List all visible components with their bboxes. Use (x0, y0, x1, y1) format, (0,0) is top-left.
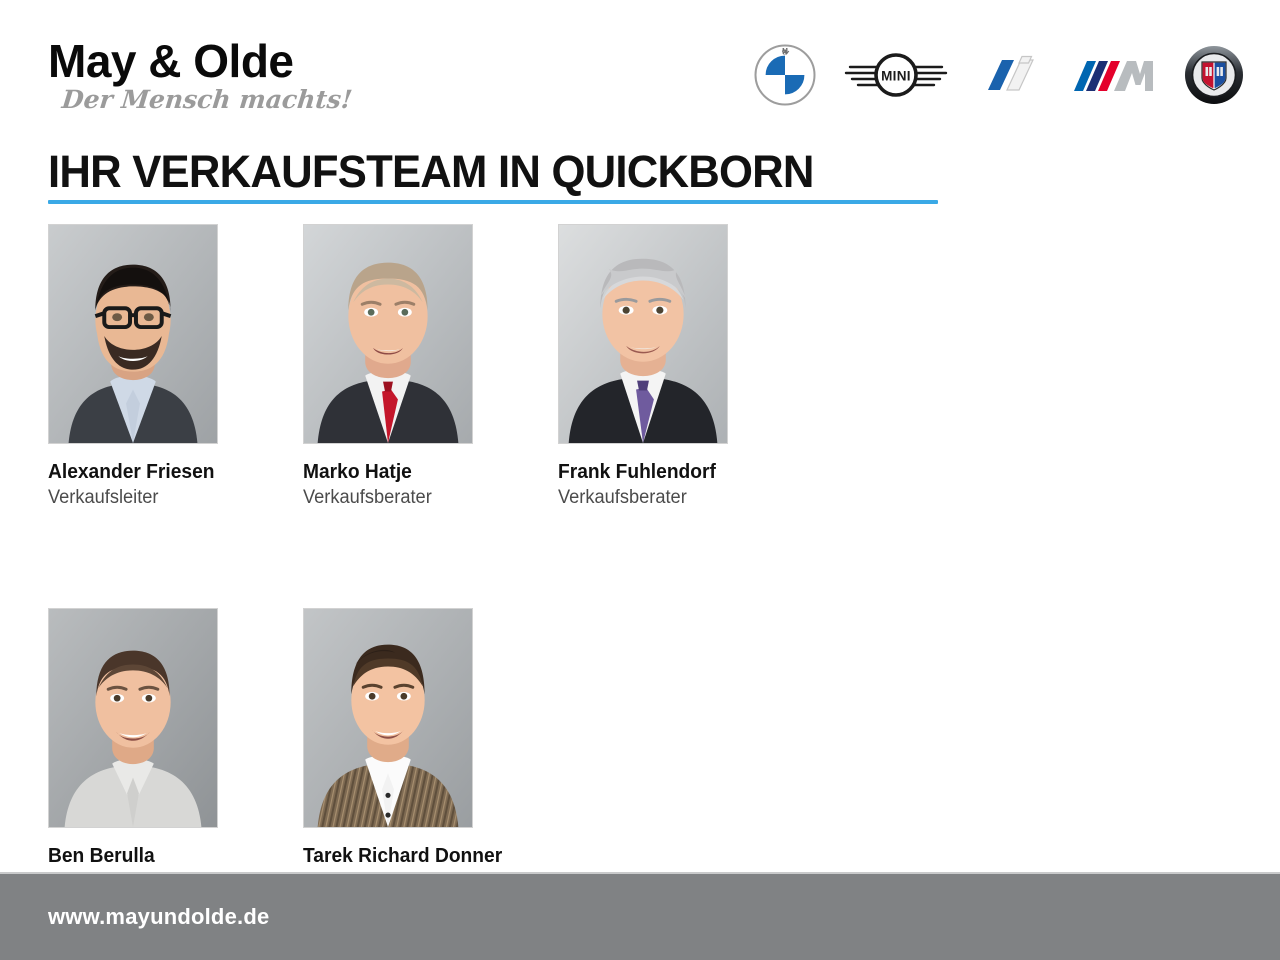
title-underline (48, 200, 938, 204)
team-member-card[interactable]: Frank Fuhlendorf Verkaufsberater (558, 224, 813, 509)
portrait-photo-ben-berulla (48, 608, 218, 828)
company-logo: May & Olde Der Mensch machts! (48, 38, 352, 114)
team-row: Ben Berulla Junior Verkäufer (48, 608, 813, 893)
bmw-i-logo (976, 54, 1042, 101)
alpina-logo (1184, 45, 1244, 110)
member-name: Ben Berulla (48, 845, 293, 868)
website-url[interactable]: www.mayundolde.de (48, 904, 269, 930)
team-member-card[interactable]: Ben Berulla Junior Verkäufer (48, 608, 303, 893)
portrait-photo-tarek-richard-donner (303, 608, 473, 828)
page-title: IHR VERKAUFSTEAM IN QUICKBORN (48, 148, 911, 195)
brand-logo-strip: B M W (754, 40, 1244, 114)
page-footer: www.mayundolde.de (0, 872, 1280, 960)
team-grid: Alexander Friesen Verkaufsleiter (48, 224, 813, 893)
mini-logo: MINI (844, 47, 948, 108)
team-member-card[interactable]: Tarek Richard Donner Junior Verkäufer (303, 608, 558, 893)
portrait-photo-alexander-friesen (48, 224, 218, 444)
company-name: May & Olde (48, 38, 352, 84)
page-title-block: IHR VERKAUFSTEAM IN QUICKBORN (48, 148, 938, 204)
member-role: Verkaufsberater (303, 487, 548, 509)
member-role: Verkaufsberater (558, 487, 803, 509)
team-page: May & Olde Der Mensch machts! B M W (0, 0, 1280, 960)
member-name: Alexander Friesen (48, 461, 293, 484)
svg-text:MINI: MINI (881, 68, 911, 83)
member-role: Verkaufsleiter (48, 487, 293, 509)
portrait-photo-marko-hatje (303, 224, 473, 444)
member-name: Frank Fuhlendorf (558, 461, 803, 484)
company-slogan: Der Mensch machts! (61, 86, 354, 114)
portrait-photo-frank-fuhlendorf (558, 224, 728, 444)
bmw-m-logo (1070, 54, 1156, 101)
team-member-card[interactable]: Marko Hatje Verkaufsberater (303, 224, 558, 509)
page-header: May & Olde Der Mensch machts! B M W (0, 0, 1280, 140)
bmw-logo: B M W (754, 44, 816, 111)
member-name: Marko Hatje (303, 461, 548, 484)
member-name: Tarek Richard Donner (303, 845, 548, 868)
team-row: Alexander Friesen Verkaufsleiter (48, 224, 813, 509)
team-member-card[interactable]: Alexander Friesen Verkaufsleiter (48, 224, 303, 509)
